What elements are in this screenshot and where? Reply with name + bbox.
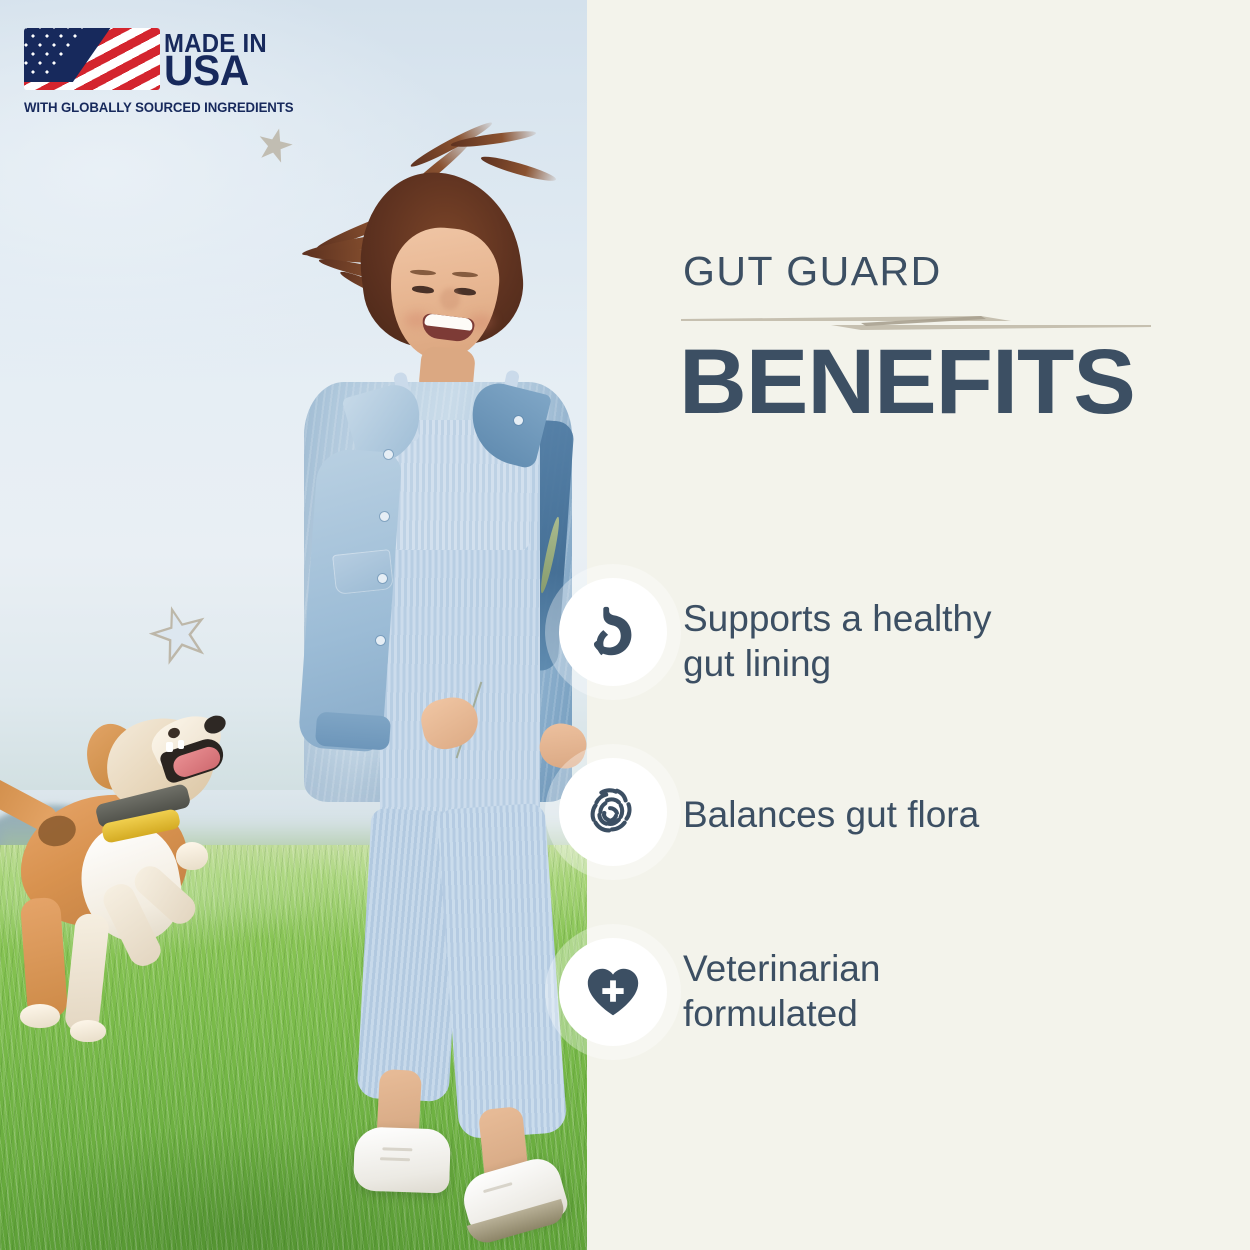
benefit-text-1-line-1: Supports a healthy bbox=[683, 596, 1153, 641]
dog-paw bbox=[70, 1020, 106, 1042]
woman-figure bbox=[272, 120, 587, 1120]
benefit-text-3-line-2: formulated bbox=[683, 991, 1153, 1036]
dog-tooth bbox=[178, 740, 184, 749]
dog-paw bbox=[176, 842, 208, 870]
benefit-icon-3[interactable] bbox=[559, 938, 667, 1046]
jacket-cuff bbox=[315, 711, 391, 750]
shoelace bbox=[483, 1182, 513, 1193]
benefit-text-3-line-1: Veterinarian bbox=[683, 946, 1153, 991]
button bbox=[380, 512, 389, 521]
promo-canvas: MADE IN USA WITH GLOBALLY SOURCED INGRED… bbox=[0, 0, 1250, 1250]
button bbox=[514, 416, 523, 425]
dog-paw bbox=[20, 1004, 60, 1028]
benefit-text-1-line-2: gut lining bbox=[683, 641, 1153, 686]
badge-line-sourced: WITH GLOBALLY SOURCED INGREDIENTS bbox=[24, 100, 293, 115]
dog-tongue bbox=[171, 744, 223, 780]
shoelace bbox=[380, 1157, 410, 1161]
benefit-text-1: Supports a healthy gut lining bbox=[683, 596, 1153, 686]
badge-line-usa: USA bbox=[164, 50, 249, 93]
sneaker-left bbox=[353, 1126, 451, 1193]
button bbox=[384, 450, 393, 459]
benefit-text-2-line-1: Balances gut flora bbox=[683, 792, 1153, 837]
microbiome-icon bbox=[582, 781, 644, 843]
benefit-row-2: Balances gut flora bbox=[587, 792, 1250, 912]
usa-flag-icon bbox=[24, 28, 160, 90]
hair-strand bbox=[480, 153, 558, 185]
page-title: BENEFITS bbox=[679, 336, 1135, 428]
button bbox=[376, 636, 385, 645]
content-panel: GUT GUARD BENEFITS Supports a healthy gu… bbox=[587, 0, 1250, 1250]
product-name: GUT GUARD bbox=[683, 248, 942, 295]
button bbox=[378, 574, 387, 583]
benefit-row-1: Supports a healthy gut lining bbox=[587, 596, 1250, 716]
heart-plus-icon bbox=[582, 961, 644, 1023]
dog-leg bbox=[64, 913, 110, 1034]
made-in-usa-badge: MADE IN USA WITH GLOBALLY SOURCED INGRED… bbox=[24, 28, 286, 116]
benefit-text-2: Balances gut flora bbox=[683, 792, 1153, 837]
benefit-text-3: Veterinarian formulated bbox=[683, 946, 1153, 1036]
jacket-pocket bbox=[332, 549, 394, 595]
hair-strand bbox=[450, 128, 537, 150]
lifestyle-photo: MADE IN USA WITH GLOBALLY SOURCED INGRED… bbox=[0, 0, 587, 1250]
stomach-icon bbox=[582, 601, 644, 663]
benefit-icon-1[interactable] bbox=[559, 578, 667, 686]
dog-figure bbox=[0, 700, 260, 1100]
shoelace bbox=[382, 1147, 412, 1151]
dog-hind-leg bbox=[20, 897, 68, 1019]
dog-tooth bbox=[166, 742, 173, 752]
benefit-row-3: Veterinarian formulated bbox=[587, 946, 1250, 1066]
nose bbox=[440, 288, 460, 310]
benefit-icon-2[interactable] bbox=[559, 758, 667, 866]
